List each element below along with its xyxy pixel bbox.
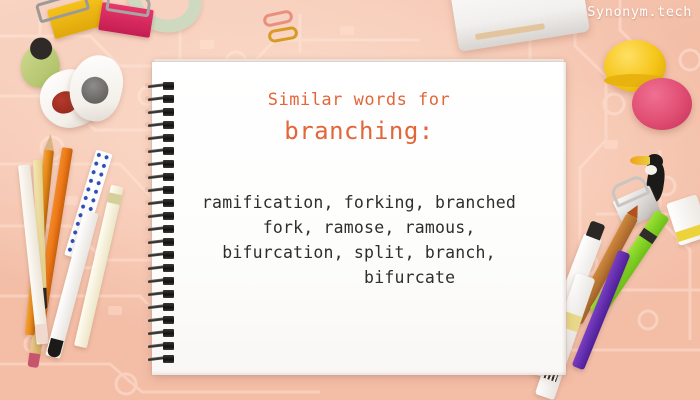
spiral-ring: [148, 108, 180, 115]
spiral-ring: [148, 186, 180, 193]
brand-watermark: Synonym.tech: [587, 4, 692, 20]
spiral-ring: [148, 95, 180, 102]
spiral-ring: [148, 329, 180, 336]
spiral-cap: [163, 147, 174, 155]
spiral-cap: [163, 199, 174, 207]
spiral-cap: [163, 121, 174, 129]
spiral-cap: [163, 290, 174, 298]
spiral-cap: [163, 225, 174, 233]
spiral-cap: [163, 316, 174, 324]
spiral-cap: [163, 329, 174, 337]
spiral-ring: [148, 251, 180, 258]
spiral-ring: [148, 199, 180, 206]
spiral-cap: [163, 95, 174, 103]
notepad: Similar words for branching: ramificatio…: [152, 62, 566, 375]
page-title-prefix: Similar words for: [268, 88, 451, 112]
spiral-cap: [163, 186, 174, 194]
spiral-cap: [163, 251, 174, 259]
spiral-ring: [148, 212, 180, 219]
spiral-cap: [163, 277, 174, 285]
spiral-cap: [163, 160, 174, 168]
spiral-ring: [148, 173, 180, 180]
spiral-ring: [148, 303, 180, 310]
spiral-ring: [148, 355, 180, 362]
spiral-ring: [148, 264, 180, 271]
spiral-ring: [148, 290, 180, 297]
spiral-ring: [148, 316, 180, 323]
spiral-cap: [163, 342, 174, 350]
spiral-ring: [148, 238, 180, 245]
page-content: Similar words for branching: ramificatio…: [152, 62, 566, 375]
spiral-ring: [148, 121, 180, 128]
spiral-cap: [163, 264, 174, 272]
spiral-ring: [148, 225, 180, 232]
spiral-cap: [163, 212, 174, 220]
spiral-cap: [163, 134, 174, 142]
spiral-cap: [163, 303, 174, 311]
spiral-cap: [163, 173, 174, 181]
spiral-ring: [148, 277, 180, 284]
spiral-ring: [148, 134, 180, 141]
spiral-ring: [148, 342, 180, 349]
spiral-ring: [148, 160, 180, 167]
notepad-page: Similar words for branching: ramificatio…: [152, 62, 566, 375]
spiral-ring: [148, 82, 180, 89]
spiral-cap: [163, 108, 174, 116]
spiral-binding: [148, 82, 182, 367]
spiral-ring: [148, 147, 180, 154]
synonyms-list: ramification, forking, branched fork, ra…: [202, 190, 516, 290]
page-keyword: branching:: [284, 114, 434, 148]
spiral-cap: [163, 355, 174, 363]
spiral-cap: [163, 238, 174, 246]
spiral-cap: [163, 82, 174, 90]
